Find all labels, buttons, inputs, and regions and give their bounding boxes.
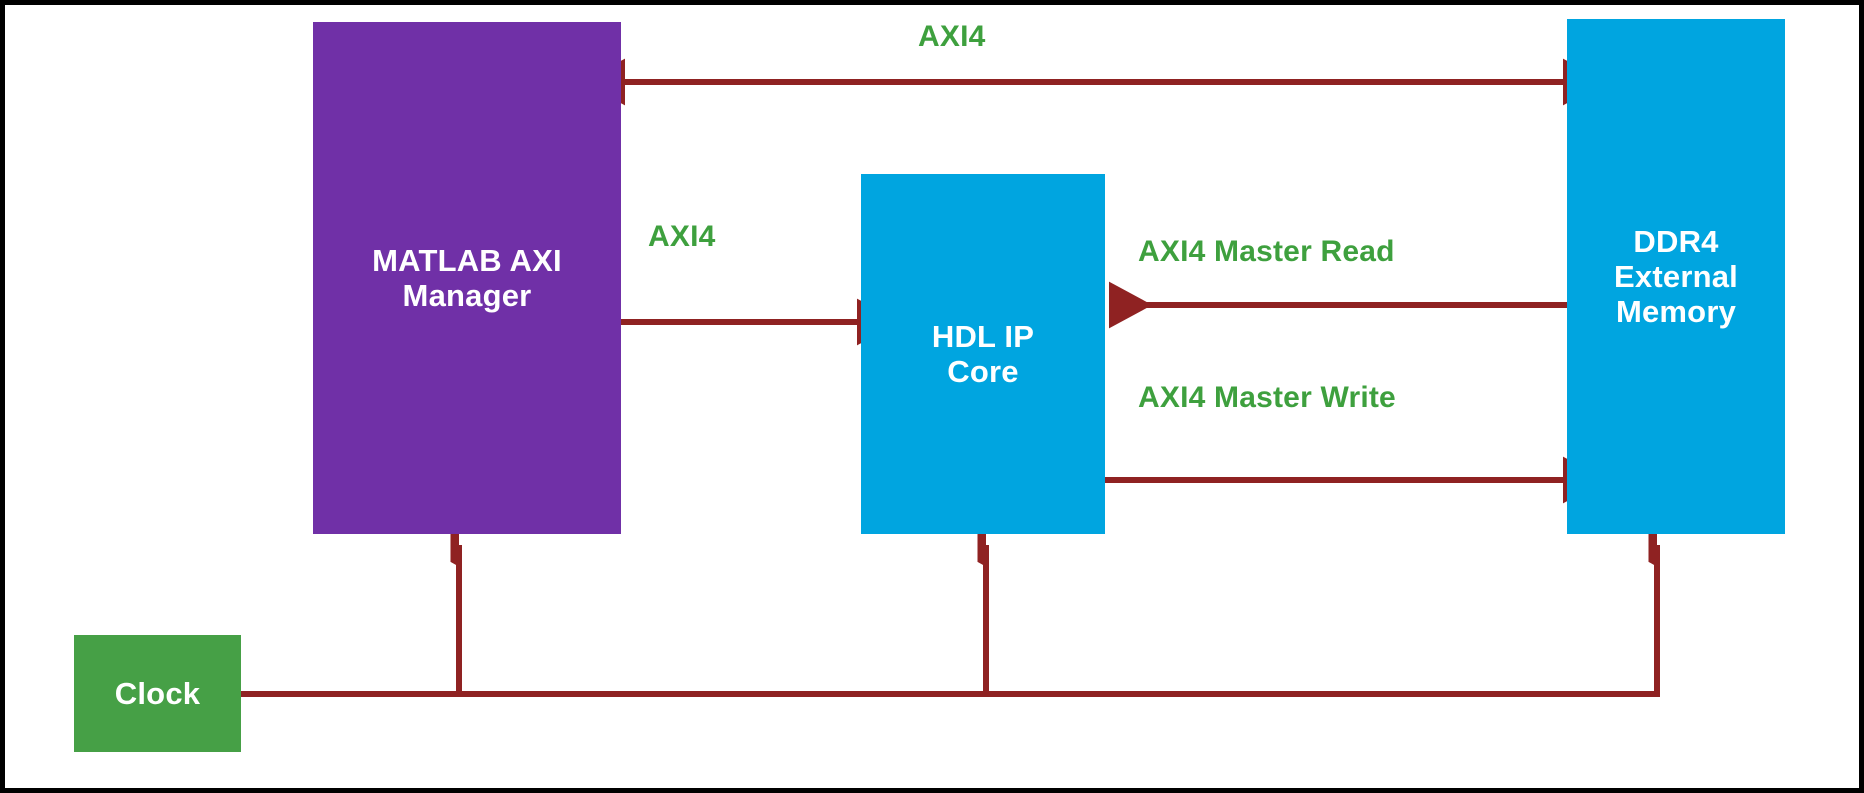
- block-ddr4-external-memory[interactable]: DDR4 External Memory: [1567, 19, 1785, 534]
- block-label-line: Manager: [403, 278, 532, 313]
- block-label-line: External: [1614, 259, 1738, 294]
- block-matlab-axi-manager[interactable]: MATLAB AXI Manager: [313, 22, 621, 534]
- block-label-line: Clock: [115, 676, 200, 711]
- block-label-line: Memory: [1616, 294, 1736, 329]
- block-label-line: DDR4: [1633, 224, 1718, 259]
- block-label-line: HDL IP: [932, 319, 1034, 354]
- block-hdl-ip-core[interactable]: HDL IP Core: [861, 174, 1105, 534]
- block-label-line: MATLAB AXI: [372, 243, 562, 278]
- connector-label-axi4-master-write: AXI4 Master Write: [1138, 381, 1396, 415]
- block-label-line: Core: [947, 354, 1018, 389]
- connector-clock-bus: [241, 545, 1657, 697]
- connector-label-axi4-manager-ipcore: AXI4: [648, 220, 716, 254]
- connector-label-axi4-manager-memory: AXI4: [918, 20, 986, 54]
- block-diagram-canvas: MATLAB AXI Manager HDL IP Core DDR4 Exte…: [0, 0, 1864, 793]
- block-clock[interactable]: Clock: [74, 635, 241, 752]
- connector-label-axi4-master-read: AXI4 Master Read: [1138, 235, 1395, 269]
